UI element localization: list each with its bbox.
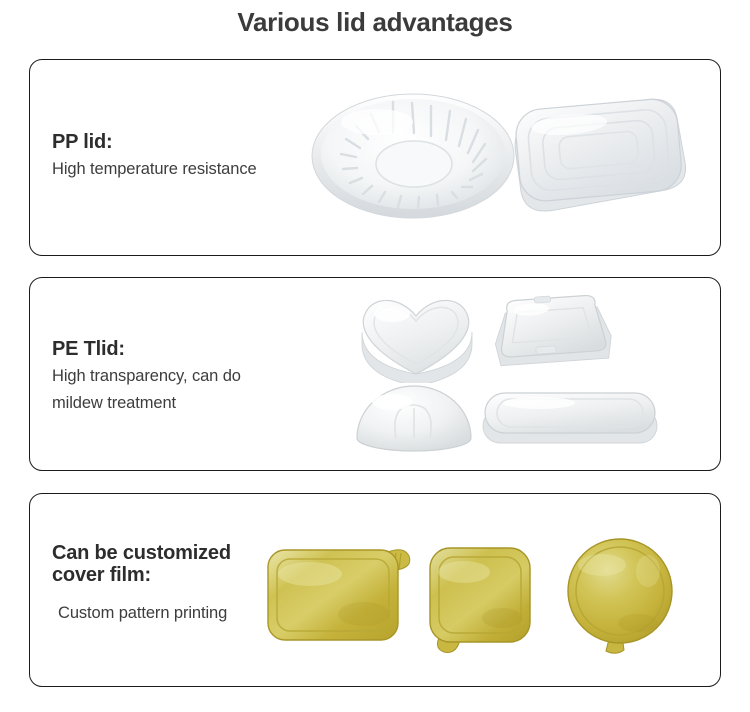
oval-pe-lid-image (475, 383, 665, 458)
pe-lid-description-line1: High transparency, can do (52, 363, 241, 390)
pp-lid-heading: PP lid: (52, 131, 257, 153)
card-cover-film: Can be customized cover film: Custom pat… (29, 493, 721, 687)
pp-lid-description: High temperature resistance (52, 156, 257, 183)
dome-pe-lid-image (350, 376, 480, 456)
card-pe-lid: PE Tlid: High transparency, can do milde… (29, 277, 721, 471)
cover-film-description: Custom pattern printing (52, 600, 231, 627)
square-gold-foil-lid-image (420, 540, 545, 658)
card-pp-lid: PP lid: High temperature resistance (29, 59, 721, 256)
rectangular-gold-foil-lid-image (260, 538, 425, 653)
pe-lid-text-block: PE Tlid: High transparency, can do milde… (52, 338, 241, 417)
cover-film-heading-line1: Can be customized (52, 542, 231, 564)
cover-film-text-block: Can be customized cover film: Custom pat… (52, 542, 231, 627)
pe-lid-heading: PE Tlid: (52, 338, 241, 360)
page-title: Various lid advantages (0, 7, 750, 38)
round-gold-foil-lid-image (560, 535, 685, 655)
square-pe-lid-image (485, 286, 620, 386)
pp-lid-text-block: PP lid: High temperature resistance (52, 131, 257, 183)
rectangular-pp-lid-image (500, 82, 700, 232)
cover-film-heading-line2: cover film: (52, 564, 231, 586)
pe-lid-description-line2: mildew treatment (52, 390, 241, 417)
round-pp-lid-image (305, 88, 515, 233)
heart-pe-lid-image (348, 288, 488, 383)
